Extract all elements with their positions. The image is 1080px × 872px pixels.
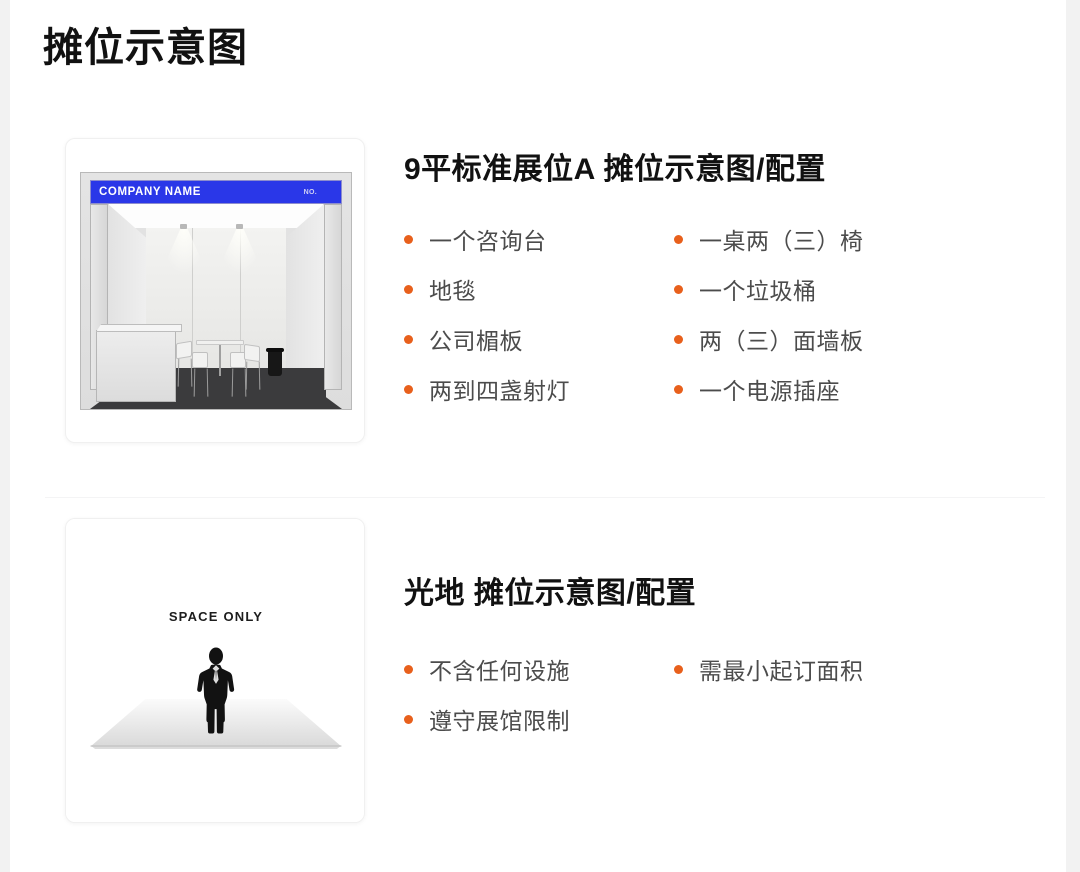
page-container: 摊位示意图 COMPANY NAME NO. [10,0,1066,872]
booth-counter [96,330,176,402]
feature-item: 两到四盏射灯 [404,364,674,414]
feature-item-empty [674,694,944,744]
section-title-space-only: 光地 摊位示意图/配置 [404,576,1066,612]
feature-label: 公司楣板 [429,322,523,356]
spotlight-icon [180,224,187,229]
trash-bin [268,350,282,376]
feature-label: 两（三）面墙板 [699,322,864,356]
bullet-dot-icon [404,665,413,674]
feature-item: 一个垃圾桶 [674,264,944,314]
feature-list-standard: 一个咨询台 一桌两（三）椅 地毯 一个垃圾桶 公司楣板 [404,214,1066,414]
bullet-dot-icon [674,235,683,244]
chair-legs [232,369,247,397]
bullet-dot-icon [404,715,413,724]
feature-label: 不含任何设施 [429,652,570,686]
bullet-dot-icon [404,385,413,394]
booth-chair [192,352,208,368]
booth-image-card-space-only[interactable]: SPACE ONLY [65,518,365,823]
space-only-floor-edge [90,745,342,749]
bullet-dot-icon [674,665,683,674]
booth-chair [176,341,192,360]
table-leg [219,344,221,376]
bullet-dot-icon [404,235,413,244]
chair-legs [178,359,193,387]
feature-item: 一桌两（三）椅 [674,214,944,264]
space-only-illustration: SPACE ONLY [66,519,365,823]
booth-content-space-only: 光地 摊位示意图/配置 不含任何设施 需最小起订面积 遵守展馆限制 [404,518,1066,744]
feature-label: 两到四盏射灯 [429,372,570,406]
feature-list-space-only: 不含任何设施 需最小起订面积 遵守展馆限制 [404,644,1066,744]
section-title-standard: 9平标准展位A 摊位示意图/配置 [404,152,1066,188]
booth-fascia-banner: COMPANY NAME NO. [90,180,342,204]
feature-item: 不含任何设施 [404,644,674,694]
businessman-silhouette-icon [194,647,238,743]
booth-table [196,340,244,345]
feature-item: 需最小起订面积 [674,644,944,694]
feature-label: 一个咨询台 [429,222,547,256]
feature-label: 一个垃圾桶 [699,272,817,306]
booth-image-card-standard[interactable]: COMPANY NAME NO. [65,138,365,443]
fascia-company-name: COMPANY NAME [99,186,201,198]
booth-section-space-only: SPACE ONLY 光地 摊位示意图/配置 不含任何设施 [10,518,1066,823]
feature-item: 一个电源插座 [674,364,944,414]
feature-item: 地毯 [404,264,674,314]
feature-item: 遵守展馆限制 [404,694,674,744]
chair-legs [246,362,261,390]
space-only-label: SPACE ONLY [66,609,365,624]
chair-legs [194,369,209,397]
bullet-dot-icon [674,285,683,294]
bullet-dot-icon [674,335,683,344]
page-title: 摊位示意图 [43,23,248,73]
section-divider [45,497,1045,498]
feature-label: 地毯 [429,272,476,306]
fascia-number-label: NO. [304,189,317,196]
bullet-dot-icon [404,335,413,344]
spotlight-icon [236,224,243,229]
booth-counter-top [96,324,182,332]
bullet-dot-icon [674,385,683,394]
feature-item: 一个咨询台 [404,214,674,264]
feature-label: 遵守展馆限制 [429,702,570,736]
feature-label: 一个电源插座 [699,372,840,406]
booth-content-standard: 9平标准展位A 摊位示意图/配置 一个咨询台 一桌两（三）椅 地毯 一个垃圾桶 [404,138,1066,414]
booth-chair [244,344,260,362]
feature-label: 需最小起订面积 [699,652,864,686]
booth-pillar-right [324,204,342,390]
booth-section-standard: COMPANY NAME NO. [10,138,1066,443]
feature-item: 公司楣板 [404,314,674,364]
booth-illustration: COMPANY NAME NO. [80,172,352,410]
feature-label: 一桌两（三）椅 [699,222,864,256]
feature-item: 两（三）面墙板 [674,314,944,364]
trash-bin-lid [266,348,284,352]
bullet-dot-icon [404,285,413,294]
